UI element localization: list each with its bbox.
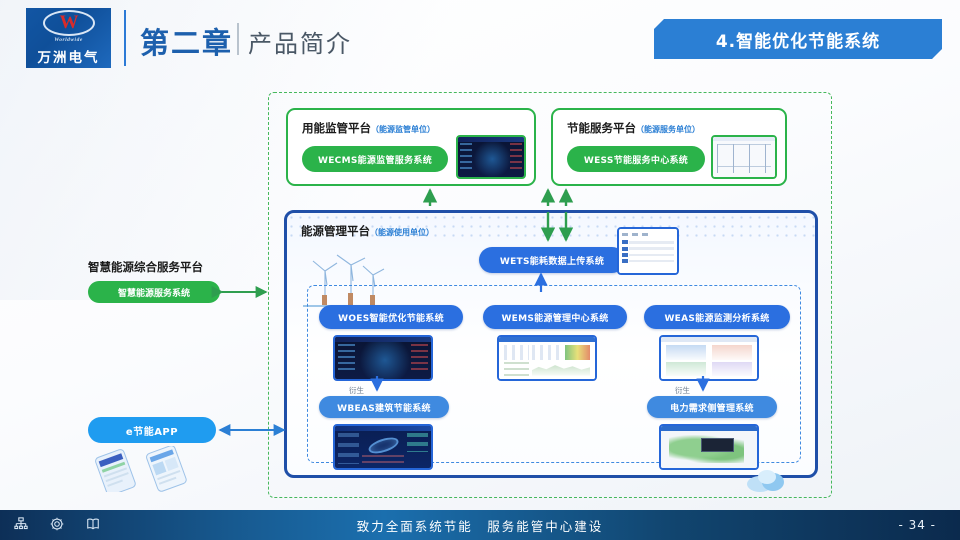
energy-platform-title: 能源管理平台（能源使用单位） bbox=[301, 223, 434, 239]
demand-side-button-label: 电力需求侧管理系统 bbox=[670, 401, 754, 414]
mobile-phones-icon bbox=[92, 446, 212, 492]
logo-letter: W bbox=[43, 12, 95, 33]
energy-platform-title-text: 能源管理平台 bbox=[301, 224, 370, 238]
wecms-button[interactable]: WECMS能源监管服务系统 bbox=[302, 146, 448, 172]
header-accent-divider bbox=[124, 10, 126, 66]
weas-derive-label: 衍生 bbox=[675, 385, 690, 396]
regulator-platform-title: 用能监管平台（能源监管单位） bbox=[302, 120, 435, 136]
wems-button[interactable]: WEMS能源管理中心系统 bbox=[483, 305, 627, 329]
wess-button-label: WESS节能服务中心系统 bbox=[584, 153, 688, 166]
weas-thumbnail[interactable] bbox=[659, 335, 759, 381]
smart-energy-service-button-label: 智慧能源服务系统 bbox=[118, 286, 190, 299]
logo-latin-text: Worldwide bbox=[54, 37, 83, 43]
header-separator bbox=[237, 23, 239, 55]
wets-upload-button[interactable]: WETS能耗数据上传系统 bbox=[479, 247, 625, 273]
company-logo: W Worldwide 万洲电气 bbox=[26, 8, 111, 68]
footer-slogan: 致力全面系统节能 服务能管中心建设 bbox=[0, 510, 960, 540]
weas-button-label: WEAS能源监测分析系统 bbox=[664, 311, 769, 324]
wbeas-button[interactable]: WBEAS建筑节能系统 bbox=[319, 396, 449, 418]
wbeas-button-label: WBEAS建筑节能系统 bbox=[337, 401, 431, 414]
wets-upload-button-label: WETS能耗数据上传系统 bbox=[500, 254, 604, 267]
weas-button[interactable]: WEAS能源监测分析系统 bbox=[644, 305, 790, 329]
demand-side-thumbnail[interactable] bbox=[659, 424, 759, 470]
cloud-icon bbox=[746, 464, 788, 494]
logo-mark-icon: W bbox=[43, 10, 95, 36]
demand-side-button[interactable]: 电力需求侧管理系统 bbox=[647, 396, 777, 418]
energy-platform-subtitle: （能源使用单位） bbox=[370, 228, 434, 237]
service-thumbnail[interactable] bbox=[711, 135, 777, 179]
chapter-subtitle: 产品简介 bbox=[248, 24, 352, 59]
wess-button[interactable]: WESS节能服务中心系统 bbox=[567, 146, 705, 172]
energy-management-platform-panel: 能源管理平台（能源使用单位） WETS能耗数据上传系统 bbox=[284, 210, 818, 478]
service-platform-box: 节能服务平台（能源服务单位） WESS节能服务中心系统 bbox=[551, 108, 787, 186]
e-energy-app-button[interactable]: e节能APP bbox=[88, 417, 216, 443]
wecms-button-label: WECMS能源监管服务系统 bbox=[318, 153, 432, 166]
regulator-platform-title-text: 用能监管平台 bbox=[302, 121, 371, 135]
page-number: - 34 - bbox=[898, 510, 936, 540]
service-platform-title-text: 节能服务平台 bbox=[567, 121, 636, 135]
slide-canvas: W Worldwide 万洲电气 第二章 产品简介 4.智能优化节能系统 用能监… bbox=[0, 0, 960, 540]
service-platform-subtitle: （能源服务单位） bbox=[636, 125, 700, 134]
section-title-text: 4.智能优化节能系统 bbox=[716, 27, 880, 52]
chapter-title: 第二章 bbox=[140, 20, 233, 62]
wbeas-thumbnail[interactable] bbox=[333, 424, 433, 470]
wems-thumbnail[interactable] bbox=[497, 335, 597, 381]
woes-button[interactable]: WOES智能优化节能系统 bbox=[319, 305, 463, 329]
regulator-thumbnail[interactable] bbox=[456, 135, 526, 179]
woes-button-label: WOES智能优化节能系统 bbox=[338, 311, 444, 324]
smart-energy-platform-label: 智慧能源综合服务平台 bbox=[88, 259, 203, 275]
wems-button-label: WEMS能源管理中心系统 bbox=[501, 311, 608, 324]
e-energy-app-button-label: e节能APP bbox=[126, 423, 178, 438]
logo-company-name: 万洲电气 bbox=[38, 46, 100, 66]
service-platform-title: 节能服务平台（能源服务单位） bbox=[567, 120, 700, 136]
woes-derive-label: 衍生 bbox=[349, 385, 364, 396]
regulator-platform-box: 用能监管平台（能源监管单位） WECMS能源监管服务系统 bbox=[286, 108, 536, 186]
wets-thumbnail[interactable] bbox=[617, 227, 679, 275]
footer-bar: 致力全面系统节能 服务能管中心建设 - 34 - bbox=[0, 510, 960, 540]
woes-thumbnail[interactable] bbox=[333, 335, 433, 381]
regulator-platform-subtitle: （能源监管单位） bbox=[371, 125, 435, 134]
smart-energy-service-button[interactable]: 智慧能源服务系统 bbox=[88, 281, 220, 303]
section-title-badge: 4.智能优化节能系统 bbox=[654, 19, 942, 59]
